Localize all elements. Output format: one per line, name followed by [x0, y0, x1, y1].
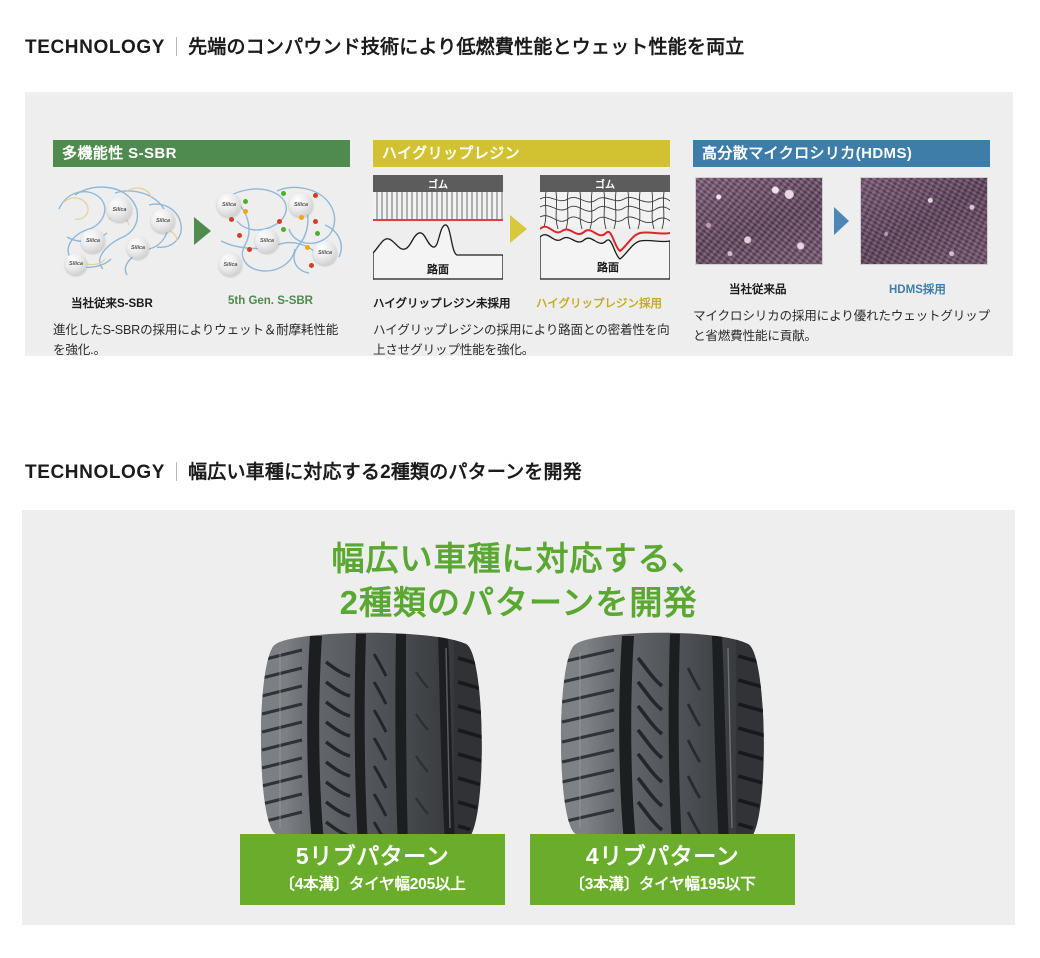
- functional-group-dot: [237, 233, 242, 238]
- functional-group-dot: [247, 247, 252, 252]
- technology-page: TECHNOLOGY 先端のコンパウンド技術により低燃費性能とウェット性能を両立…: [0, 0, 1040, 958]
- card-header-s-sbr: 多機能性 S-SBR: [53, 140, 350, 167]
- resin-cross-section-with: 路面: [540, 175, 670, 287]
- functional-group-dot: [299, 215, 304, 220]
- functional-group-dot: [243, 209, 248, 214]
- functional-group-dot: [281, 191, 286, 196]
- molecule-conventional: Silica Silica Silica Silica Silica: [53, 175, 188, 287]
- compound-technology-panel: 多機能性 S-SBR: [25, 92, 1013, 356]
- section-kicker: TECHNOLOGY: [25, 462, 165, 484]
- functional-group-dot: [313, 219, 318, 224]
- hdms-figure: [693, 175, 990, 293]
- silica-particle: Silica: [127, 237, 149, 259]
- functional-group-dot: [281, 227, 286, 232]
- tire-4rib-image: [530, 628, 795, 840]
- pattern-badge-4rib: 4リブパターン 〔3本溝〕タイヤ幅195以下: [530, 834, 795, 905]
- silica-particle: Silica: [255, 229, 279, 253]
- s-sbr-captions: 当社従来S-SBR 5th Gen. S-SBR: [53, 295, 350, 313]
- pattern-badge-title: 5リブパターン: [244, 843, 501, 869]
- functional-group-dot: [315, 231, 320, 236]
- micrograph-conventional: [695, 177, 823, 265]
- silica-particle: Silica: [107, 197, 132, 222]
- pattern-badge-title: 4リブパターン: [534, 843, 791, 869]
- functional-group-dot: [313, 193, 318, 198]
- pattern-badge-subtitle: 〔4本溝〕タイヤ幅205以上: [244, 872, 501, 894]
- tire-tread-4rib: [530, 628, 795, 840]
- section-title: 先端のコンパウンド技術により低燃費性能とウェット性能を両立: [188, 32, 744, 59]
- resin-diagram-without: ゴム 路面: [373, 175, 503, 287]
- functional-group-dot: [277, 219, 282, 224]
- functional-group-dot: [305, 245, 310, 250]
- caption-5th-gen: 5th Gen. S-SBR: [228, 295, 313, 307]
- section-title: 幅広い車種に対応する2種類のパターンを開発: [188, 457, 582, 484]
- resin-description: ハイグリップレジンの採用により路面との密着性を向上させグリップ性能を強化。: [373, 321, 670, 360]
- caption-without-resin: ハイグリップレジン未採用: [373, 295, 511, 311]
- caption-hdms-adopted: HDMS採用: [889, 281, 946, 297]
- hdms-captions: 当社従来品 HDMS採用: [693, 281, 990, 299]
- micrograph-hdms: [860, 177, 988, 265]
- silica-particle: Silica: [151, 209, 175, 233]
- pattern-badge-subtitle: 〔3本溝〕タイヤ幅195以下: [534, 872, 791, 894]
- tire-5rib-block: 5リブパターン 〔4本溝〕タイヤ幅205以上: [240, 628, 505, 905]
- pattern-badge-5rib: 5リブパターン 〔4本溝〕タイヤ幅205以上: [240, 834, 505, 905]
- caption-with-resin: ハイグリップレジン採用: [536, 295, 662, 311]
- arrow-right-icon: [194, 217, 211, 245]
- pattern-headline-line2: 2種類のパターンを開発: [22, 581, 1015, 625]
- arrow-right-icon: [834, 207, 849, 235]
- tire-5rib-image: [240, 628, 505, 840]
- heading-divider: [176, 37, 177, 56]
- silica-particle: Silica: [313, 241, 337, 265]
- caption-conventional-product: 当社従来品: [729, 281, 787, 297]
- silica-particle: Silica: [219, 253, 242, 276]
- silica-particle: Silica: [217, 193, 241, 217]
- s-sbr-figure: Silica Silica Silica Silica Silica: [53, 175, 350, 293]
- pattern-headline: 幅広い車種に対応する、 2種類のパターンを開発: [22, 537, 1015, 624]
- svg-text:路面: 路面: [597, 260, 619, 274]
- resin-captions: ハイグリップレジン未採用 ハイグリップレジン採用: [373, 295, 670, 313]
- heading-divider: [176, 462, 177, 481]
- section-heading-2: TECHNOLOGY 幅広い車種に対応する2種類のパターンを開発: [25, 457, 582, 484]
- pattern-technology-panel: 幅広い車種に対応する、 2種類のパターンを開発: [22, 510, 1015, 925]
- s-sbr-description: 進化したS-SBRの採用によりウェット＆耐摩耗性能を強化.。: [53, 321, 350, 360]
- resin-cross-section-without: 路面: [373, 175, 503, 287]
- card-high-grip-resin: ハイグリップレジン ゴム 路面: [373, 140, 670, 360]
- pattern-headline-line1: 幅広い車種に対応する、: [22, 537, 1015, 581]
- high-grip-resin-figure: ゴム 路面 ゴム: [373, 175, 670, 293]
- silica-particle: Silica: [289, 193, 313, 217]
- card-multifunctional-s-sbr: 多機能性 S-SBR: [53, 140, 350, 360]
- functional-group-dot: [229, 217, 234, 222]
- resin-diagram-with: ゴム 路面: [540, 175, 670, 287]
- molecule-5th-gen: Silica Silica Silica Silica Silica: [215, 175, 350, 287]
- functional-group-dot: [243, 199, 248, 204]
- card-header-hdms: 高分散マイクロシリカ(HDMS): [693, 140, 990, 167]
- section-heading-1: TECHNOLOGY 先端のコンパウンド技術により低燃費性能とウェット性能を両立: [25, 32, 744, 59]
- tire-4rib-block: 4リブパターン 〔3本溝〕タイヤ幅195以下: [530, 628, 795, 905]
- card-header-high-grip-resin: ハイグリップレジン: [373, 140, 670, 167]
- silica-particle: Silica: [81, 229, 105, 253]
- arrow-right-icon: [510, 215, 527, 243]
- functional-group-dot: [309, 263, 314, 268]
- svg-text:路面: 路面: [427, 262, 449, 276]
- caption-conventional: 当社従来S-SBR: [71, 295, 153, 311]
- section-kicker: TECHNOLOGY: [25, 37, 165, 59]
- hdms-description: マイクロシリカの採用により優れたウェットグリップと省燃費性能に貢献。: [693, 307, 990, 346]
- silica-particle: Silica: [65, 253, 87, 275]
- tire-tread-5rib: [240, 628, 505, 840]
- card-hdms: 高分散マイクロシリカ(HDMS) 当社従来品 HDMS採用 マイクロシリカの採用…: [693, 140, 990, 346]
